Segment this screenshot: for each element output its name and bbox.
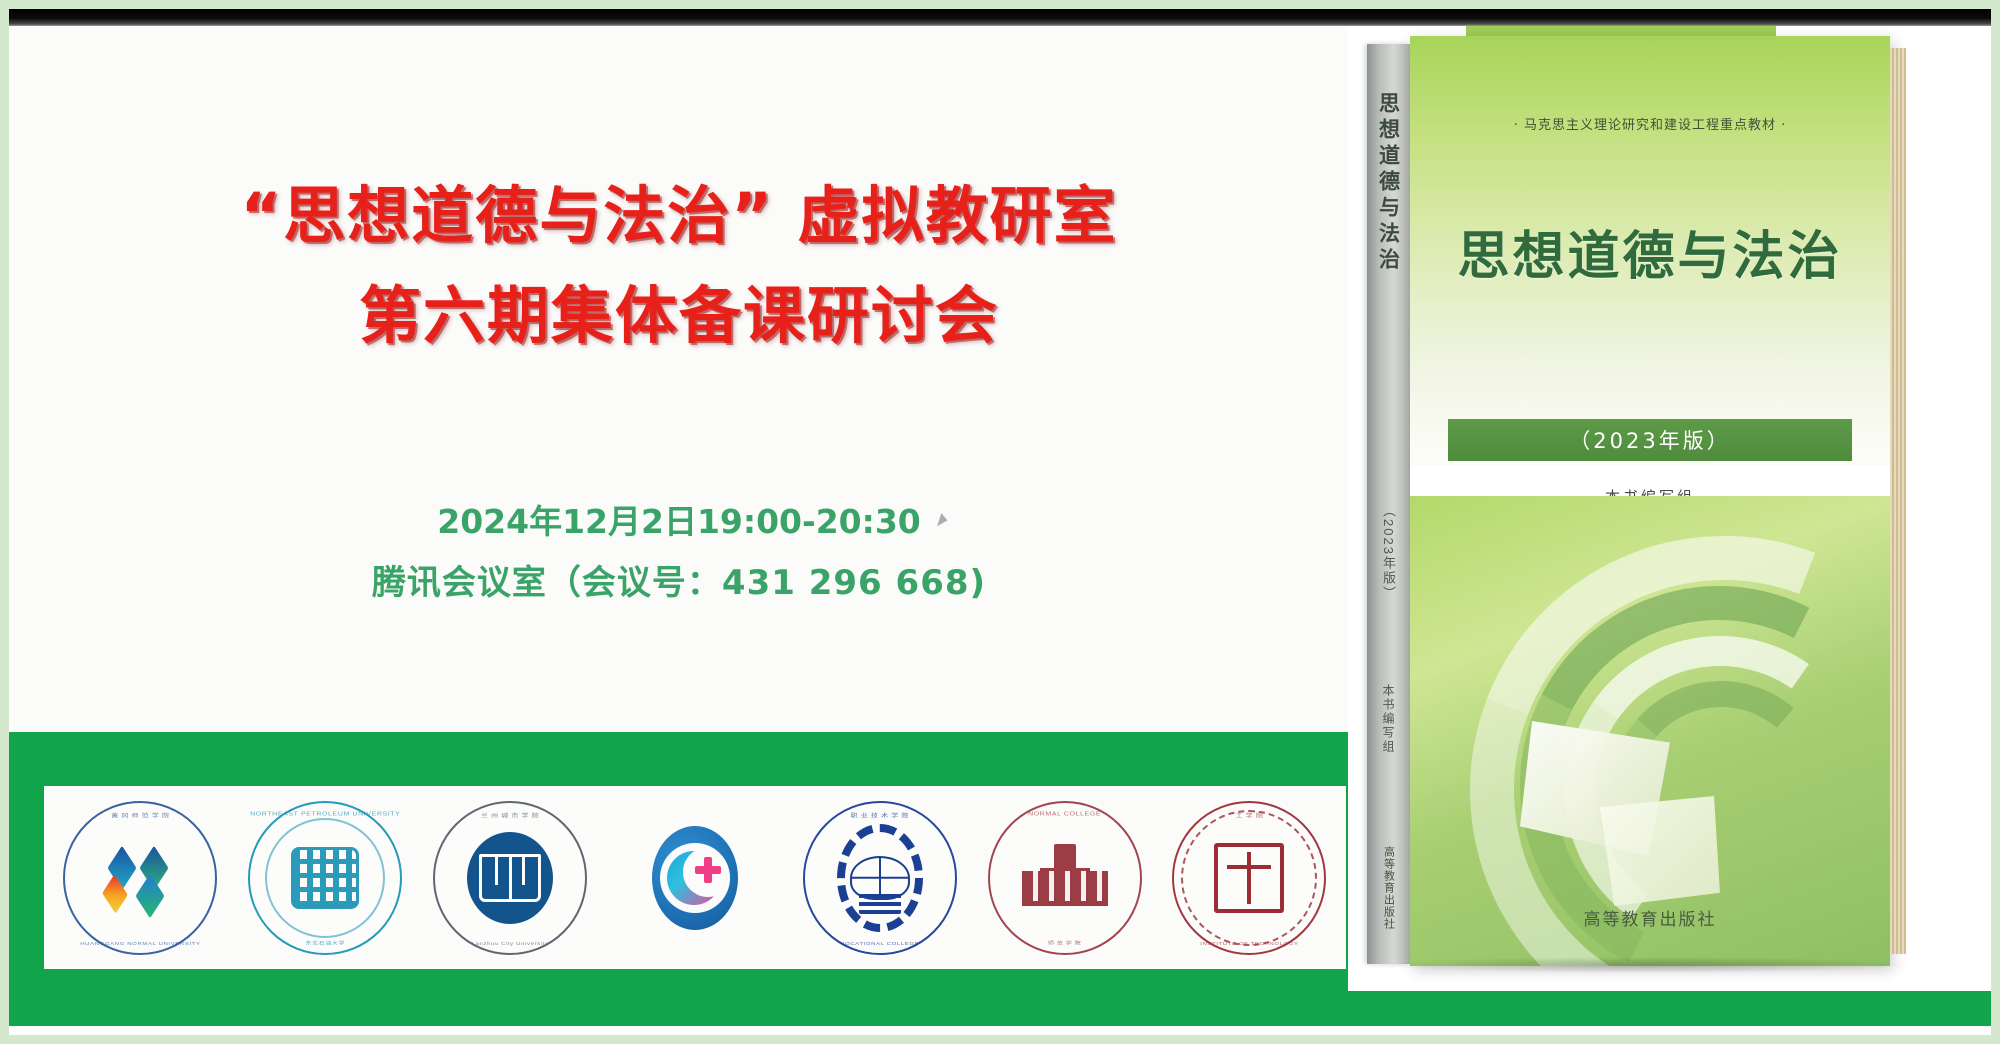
seal-glyph-icon [282, 835, 368, 921]
page-title: “思想道德与法治” 虚拟教研室 第六期集体备课研讨会 [29, 166, 1329, 367]
subtitle-meeting-room: 腾讯会议室（会议号：431 296 668) [29, 552, 1329, 615]
slide-canvas: “思想道德与法治” 虚拟教研室 第六期集体备课研讨会 2024年12月2日19:… [0, 0, 2000, 1044]
book-spine-title: 思想道德与法治 [1374, 92, 1404, 274]
logo-en-text: Lanzhou City University [431, 941, 589, 946]
logo-en-text: MEDICAL COLLEGE [616, 937, 774, 942]
logo-en-text: HUANGGANG NORMAL UNIVERSITY [61, 941, 219, 946]
cover-decorative-artwork [1410, 496, 1890, 966]
logo-normal-college: NORMAL COLLEGE 师 范 学 院 [986, 799, 1144, 957]
slide-subtitle: 2024年12月2日19:00-20:30 腾讯会议室（会议号：431 296 … [29, 491, 1329, 615]
book-spine: 思想道德与法治 （2023年版） 本书编写组 高等教育出版社 [1367, 44, 1410, 964]
title-line-1: “思想道德与法治” 虚拟教研室 [29, 166, 1329, 266]
crescent-cross-icon [652, 835, 738, 921]
logo-en-text: NORMAL COLLEGE [986, 811, 1144, 817]
presentation-slide: “思想道德与法治” 虚拟教研室 第六期集体备课研讨会 2024年12月2日19:… [9, 26, 1991, 1026]
logo-cn-text: 黄 冈 师 范 学 院 [61, 812, 219, 820]
logo-en-text: NORTHEAST PETROLEUM UNIVERSITY [246, 811, 404, 817]
logo-cn-text: 兰 州 城 市 学 院 [431, 812, 589, 820]
book-spine-publisher: 高等教育出版社 [1381, 846, 1397, 930]
book-series-line: · 马克思主义理论研究和建设工程重点教材 · [1410, 114, 1890, 133]
book-front-cover: · 马克思主义理论研究和建设工程重点教材 · 思想道德与法治 （2023年版） … [1410, 36, 1890, 966]
book-edition-label: （2023年版） [1569, 425, 1730, 455]
book-edition-band: （2023年版） [1448, 419, 1852, 461]
logo-institute-of-technology: 工 学 院 INSTITUTE OF TECHNOLOGY [1170, 799, 1328, 957]
logo-cn-text: 职 业 技 术 学 院 [801, 812, 959, 820]
gear-globe-icon [837, 835, 923, 921]
book-drop-shadow [1388, 957, 1908, 973]
logo-en-text: INSTITUTE OF TECHNOLOGY [1170, 941, 1328, 946]
cube-cluster-icon [97, 835, 183, 921]
logo-cn-text: 东北石油大学 [246, 938, 404, 945]
logo-lanzhou-city-university: 兰 州 城 市 学 院 Lanzhou City University [431, 799, 589, 957]
title-line-2: 第六期集体备课研讨会 [29, 266, 1329, 366]
logo-cn-text: 师 范 学 院 [986, 938, 1144, 945]
logo-northeast-petroleum-university: NORTHEAST PETROLEUM UNIVERSITY 东北石油大学 [246, 799, 404, 957]
book-title: 思想道德与法治 [1410, 214, 1890, 289]
logo-en-text: VOCATIONAL COLLEGE [801, 941, 959, 946]
logo-medical-college: MEDICAL COLLEGE [616, 799, 774, 957]
textbook-cover-image: 思想道德与法治 （2023年版） 本书编写组 高等教育出版社 · 马克思主义理论… [1348, 26, 1991, 991]
book-spine-author: 本书编写组 [1380, 684, 1397, 754]
book-spine-edition: （2023年版） [1379, 504, 1398, 601]
book-publisher: 高等教育出版社 [1410, 905, 1890, 930]
seal-square-icon [1206, 835, 1292, 921]
logo-huanggang-normal-university: 黄 冈 师 范 学 院 HUANGGANG NORMAL UNIVERSITY [61, 799, 219, 957]
book-page-edges [1890, 48, 1906, 954]
open-book-icon [467, 835, 553, 921]
logo-vocational-college: 职 业 技 术 学 院 VOCATIONAL COLLEGE [801, 799, 959, 957]
subtitle-datetime: 2024年12月2日19:00-20:30 [29, 491, 1329, 552]
partner-logo-strip: 黄 冈 师 范 学 院 HUANGGANG NORMAL UNIVERSITY … [44, 786, 1346, 969]
player-top-bar [9, 9, 1991, 26]
logo-cn-text: 工 学 院 [1170, 812, 1328, 820]
building-icon [1022, 835, 1108, 921]
